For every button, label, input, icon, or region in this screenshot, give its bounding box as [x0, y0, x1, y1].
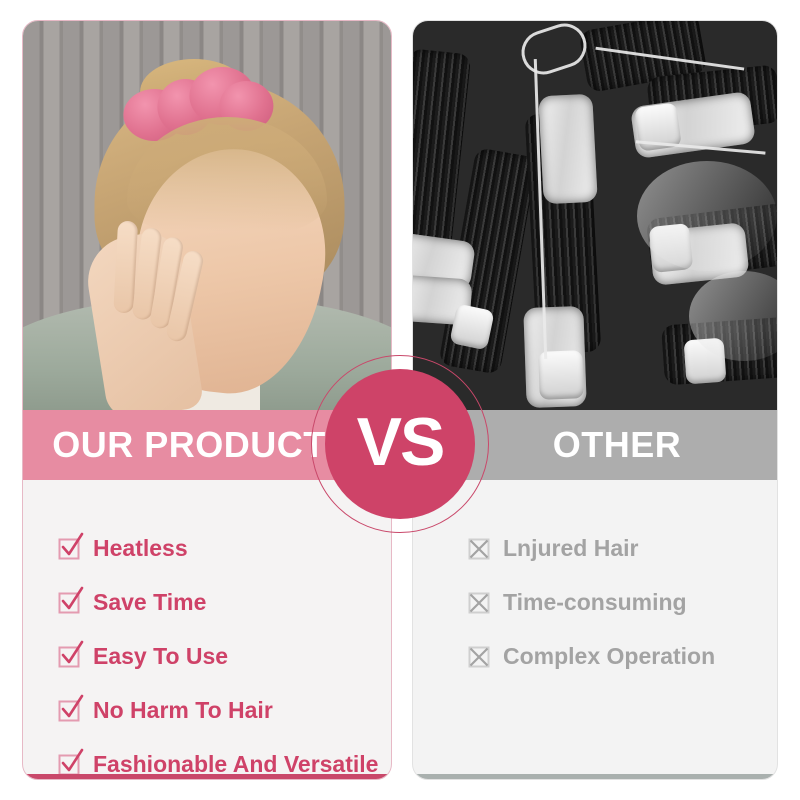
checkbox-crossed-icon: [469, 592, 490, 613]
list-item: Fashionable And Versatile: [23, 737, 391, 780]
checkbox-checked-icon: [59, 538, 80, 559]
list-item: Easy To Use: [23, 629, 391, 683]
other-title: OTHER: [553, 424, 682, 466]
our-product-title: OUR PRODUCT: [52, 424, 326, 466]
list-item-label: Fashionable And Versatile: [93, 751, 378, 778]
vs-badge-label: VS: [357, 408, 444, 476]
our-product-feature-list: Heatless Save Time Eas: [23, 501, 391, 780]
vs-badge: VS: [305, 349, 495, 539]
list-item-label: Time-consuming: [503, 589, 687, 616]
list-item-label: Save Time: [93, 589, 206, 616]
checkbox-checked-icon: [59, 646, 80, 667]
list-item-label: Lnjured Hair: [503, 535, 638, 562]
list-item: Complex Operation: [413, 629, 777, 683]
comparison-infographic: OUR PRODUCT Heatless: [0, 0, 800, 800]
list-item: No Harm To Hair: [23, 683, 391, 737]
checkbox-checked-icon: [59, 592, 80, 613]
checkbox-crossed-icon: [469, 646, 490, 667]
list-item-label: Complex Operation: [503, 643, 715, 670]
list-item-label: Heatless: [93, 535, 188, 562]
checkbox-checked-icon: [59, 754, 80, 775]
list-item: Save Time: [23, 575, 391, 629]
list-item: Time-consuming: [413, 575, 777, 629]
list-item-label: Easy To Use: [93, 643, 228, 670]
list-item-label: No Harm To Hair: [93, 697, 273, 724]
checkbox-checked-icon: [59, 700, 80, 721]
checkbox-crossed-icon: [469, 538, 490, 559]
vs-badge-circle: VS: [325, 369, 475, 519]
